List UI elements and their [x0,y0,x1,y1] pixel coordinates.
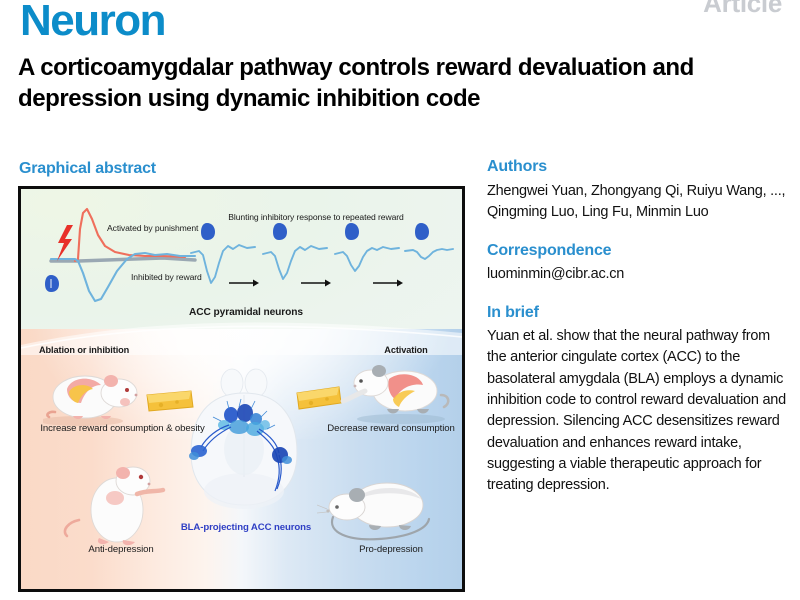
mouse-anti-depression-illustration [59,464,199,549]
label-activation: Activation [351,344,461,356]
authors-heading: Authors [487,158,787,176]
article-type-label: Article [703,0,782,19]
correspondence-heading: Correspondence [487,242,787,260]
progression-arrows [229,280,403,287]
label-acc-pyramidal-neurons: ACC pyramidal neurons [131,306,361,320]
label-anti-depression: Anti-depression [51,544,191,557]
reward-droplet-icon [45,275,59,292]
mouse-decrease-consumption-illustration [289,357,454,429]
graphical-abstract-figure: Activated by punishment Inhibited by rew… [18,186,465,592]
blunting-response-trace-series [189,221,457,301]
label-ablation-or-inhibition: Ablation or inhibition [39,344,179,356]
label-activated-by-punishment: Activated by punishment [107,223,227,235]
label-blunting-response: Blunting inhibitory response to repeated… [196,212,436,224]
article-metadata-column: Authors Zhengwei Yuan, Zhongyang Qi, Rui… [487,158,787,497]
label-inhibited-by-reward: Inhibited by reward [131,272,241,284]
reward-droplet-icons-row [201,223,429,240]
correspondence-email[interactable]: luominmin@cibr.ac.cn [487,264,787,285]
authors-list: Zhengwei Yuan, Zhongyang Qi, Ruiyu Wang,… [487,181,787,223]
label-increase-reward-consumption: Increase reward consumption & obesity [35,423,210,436]
lightning-bolt-icon [57,225,73,261]
in-brief-heading: In brief [487,304,787,322]
label-pro-depression: Pro-depression [321,544,461,557]
in-brief-text: Yuan et al. show that the neural pathway… [487,326,787,497]
label-decrease-reward-consumption: Decrease reward consumption [321,423,461,436]
punishment-reward-trace-chart [45,199,205,314]
page-title: A corticoamygdalar pathway controls rewa… [18,53,708,114]
graphical-abstract-heading: Graphical abstract [19,160,156,178]
brain-projection-illustration [179,367,309,527]
mouse-pro-depression-illustration [317,475,457,547]
journal-logo: Neuron [20,0,165,44]
label-bla-projecting-acc-neurons: BLA-projecting ACC neurons [161,522,331,535]
